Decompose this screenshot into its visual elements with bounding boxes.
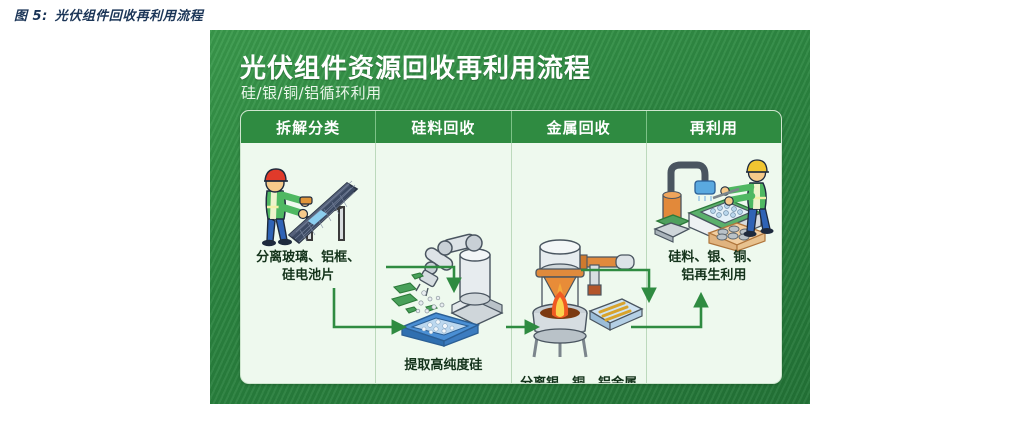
worker-dismantling-solar-panel-icon — [251, 155, 371, 251]
process-step-silicon-recovery: 提取高纯度硅 — [376, 143, 511, 383]
worker-assembly-line-reuse-icon — [653, 151, 777, 251]
column-header-reuse: 再利用 — [647, 111, 781, 143]
infographic-image: 光伏组件资源回收再利用流程 硅/银/铜/铝循环利用 拆解分类 硅料回收 金属回收… — [210, 30, 810, 404]
process-flow-card: 拆解分类 硅料回收 金属回收 再利用 — [240, 110, 782, 384]
step-caption-reuse-line2: 铝再生利用 — [681, 268, 746, 283]
smelting-furnace-casting-tray-icon — [518, 233, 642, 361]
step-caption-dismantle: 分离玻璃、铝框、 硅电池片 — [241, 249, 375, 284]
step-caption-reuse-line1: 硅料、银、铜、 — [668, 250, 759, 265]
column-header-silicon-recovery: 硅料回收 — [376, 111, 511, 143]
figure-caption-text: 光伏组件回收再利用流程 — [55, 9, 204, 24]
step-caption-dismantle-line1: 分离玻璃、铝框、 — [256, 250, 360, 265]
process-step-dismantle: 分离玻璃、铝框、 硅电池片 — [241, 143, 376, 383]
column-header-dismantle: 拆解分类 — [241, 111, 376, 143]
step-caption-silicon-recovery: 提取高纯度硅 — [376, 357, 510, 375]
step-caption-reuse: 硅料、银、铜、 铝再生利用 — [647, 249, 781, 284]
process-step-reuse: 硅料、银、铜、 铝再生利用 — [647, 143, 781, 383]
process-body-row: 分离玻璃、铝框、 硅电池片 — [241, 143, 781, 383]
step-caption-metal-recovery: 分离银、铜、铝金属 — [512, 375, 646, 384]
process-step-metal-recovery: 分离银、铜、铝金属 — [512, 143, 647, 383]
robot-arm-silicon-granules-tray-icon — [390, 221, 504, 346]
figure-caption: 图 5:光伏组件回收再利用流程 — [14, 5, 203, 24]
infographic-subtitle: 硅/银/铜/铝循环利用 — [241, 82, 382, 103]
process-header-row: 拆解分类 硅料回收 金属回收 再利用 — [241, 111, 781, 143]
infographic-title: 光伏组件资源回收再利用流程 — [240, 48, 591, 85]
step-caption-dismantle-line2: 硅电池片 — [282, 268, 334, 283]
column-header-metal-recovery: 金属回收 — [512, 111, 647, 143]
figure-number: 图 5: — [14, 9, 48, 24]
